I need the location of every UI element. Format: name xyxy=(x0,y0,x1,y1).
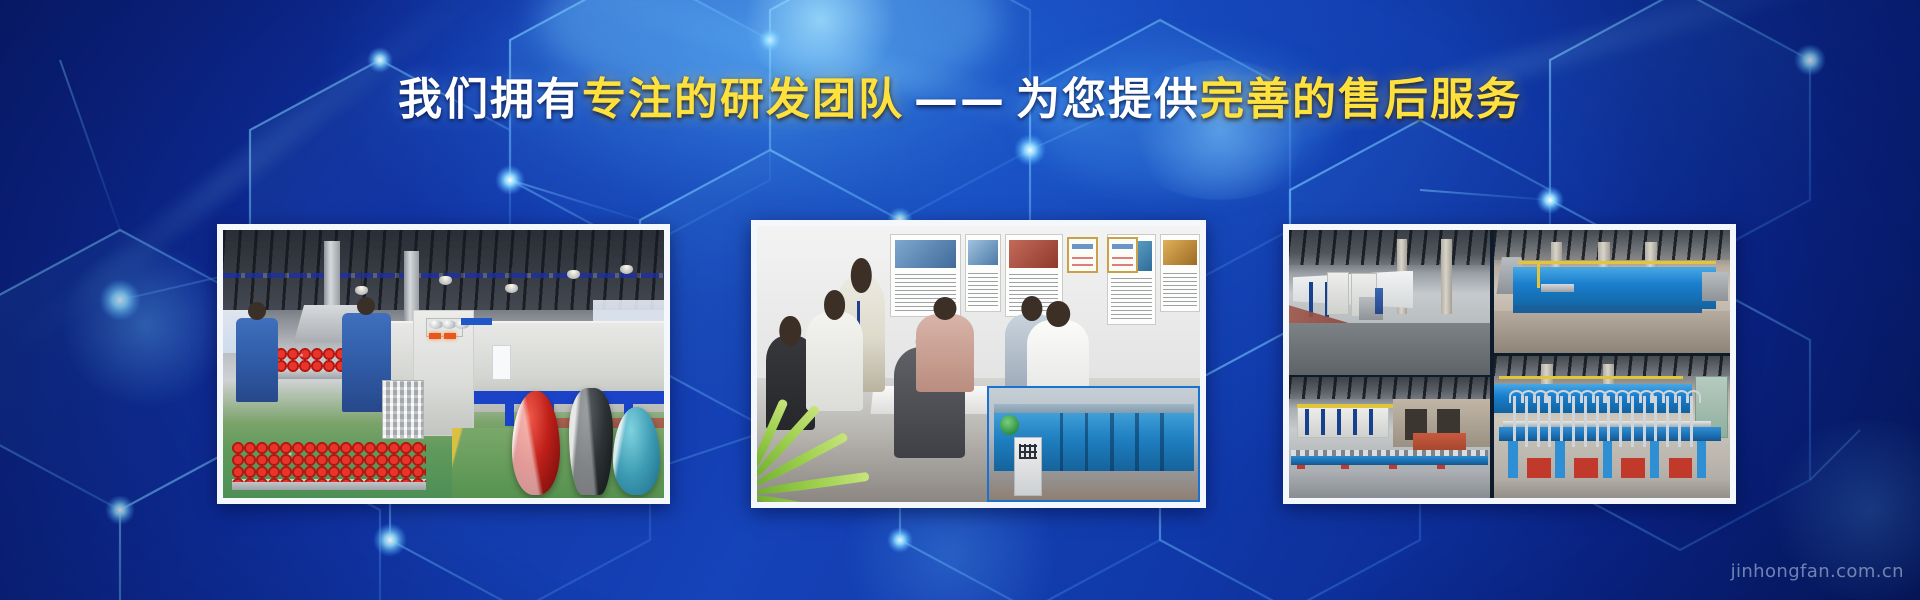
certificate xyxy=(1067,237,1098,273)
collage-tile-hanging-hook-conveyor xyxy=(1494,356,1730,498)
worker-blue-uniform xyxy=(1375,288,1383,314)
certificate xyxy=(1107,237,1138,273)
panel-production-line-image xyxy=(223,230,664,498)
conveyor-hook xyxy=(1548,396,1551,447)
workshop-interior xyxy=(1289,230,1490,375)
participant-head xyxy=(851,258,871,293)
collage-tile-chain-conveyor xyxy=(1289,377,1490,498)
machine-segment xyxy=(1110,413,1113,471)
control-button-grid xyxy=(1019,444,1037,459)
headline-highlight-1: 专注的研发团队 xyxy=(582,74,904,125)
machine-segment xyxy=(1060,413,1063,471)
conveyor-hook xyxy=(1584,396,1587,447)
panel-customer-meeting-image xyxy=(757,226,1200,502)
meeting-participant xyxy=(806,312,864,411)
factory-coating-line-photo xyxy=(223,230,664,498)
glow-blob-a xyxy=(730,0,910,80)
plastic-crate xyxy=(382,380,424,439)
tunnel-base xyxy=(1513,306,1702,312)
conveyor-hook xyxy=(1513,396,1516,447)
control-gauge xyxy=(442,320,456,329)
workshop-interior xyxy=(1289,377,1490,498)
palm-plant xyxy=(757,397,885,502)
ceiling-lamp xyxy=(620,265,633,274)
conveyor-hook xyxy=(1525,396,1528,447)
support-pillar xyxy=(1441,239,1451,314)
conveyor-hook xyxy=(1678,396,1681,447)
enclosure-post xyxy=(1337,409,1341,436)
machine-segment xyxy=(1160,413,1163,471)
ceiling-lamp xyxy=(505,284,518,293)
workshop-floor xyxy=(1494,311,1730,353)
poster-thumbnail xyxy=(968,240,997,266)
cabinet-label xyxy=(461,318,492,324)
collage-tile-blue-drying-tunnel xyxy=(1494,230,1730,353)
poster-thumbnail xyxy=(1009,240,1058,267)
technical-poster xyxy=(1160,234,1200,311)
overhead-yellow-beam xyxy=(1297,404,1393,408)
enclosure-post xyxy=(1353,409,1357,436)
oven-enclosure xyxy=(1297,406,1389,437)
certificate-lines xyxy=(1112,252,1134,267)
collage-tile-tunnel-oven-row xyxy=(1289,230,1490,375)
enclosure-post xyxy=(1321,409,1325,436)
machine-inset-photo xyxy=(987,386,1200,502)
participant-head xyxy=(1021,296,1042,321)
oven-leg xyxy=(505,402,514,426)
roof-structure xyxy=(1289,377,1490,399)
worker-head xyxy=(248,302,266,320)
certificate-title xyxy=(1112,244,1134,249)
poster-text-lines xyxy=(968,270,997,306)
poster-thumbnail xyxy=(1163,240,1196,266)
headline-dash: —— xyxy=(904,74,1016,125)
enclosure-post xyxy=(1369,409,1373,436)
conveyor-chain xyxy=(1291,450,1488,456)
machine-control-box xyxy=(1014,437,1041,495)
panel-equipment-collage[interactable] xyxy=(1283,224,1736,504)
workshop-floor xyxy=(1289,323,1490,375)
yellow-gas-pipe xyxy=(1518,261,1716,264)
yellow-gas-pipe xyxy=(1499,376,1683,379)
meeting-participant xyxy=(916,314,974,391)
enclosure-post xyxy=(1305,409,1309,436)
headline-highlight-2: 完善的售后服务 xyxy=(1200,74,1522,125)
conveyor-hook xyxy=(1607,396,1610,447)
wall-document xyxy=(492,345,511,380)
conveyor-hook xyxy=(1560,396,1563,447)
equipment-collage-photo xyxy=(1289,230,1730,498)
worker-head xyxy=(357,297,375,315)
promo-banner: 我们拥有专注的研发团队——为您提供完善的售后服务 xyxy=(0,0,1920,600)
poster-text-lines xyxy=(1111,276,1152,319)
yellow-gas-pipe-drop xyxy=(1537,261,1540,288)
conveyor-hook xyxy=(1596,396,1599,447)
conveyor-hook xyxy=(1643,396,1646,447)
conveyor-hook xyxy=(1631,396,1634,447)
page-title: 我们拥有专注的研发团队——为您提供完善的售后服务 xyxy=(0,78,1920,122)
conveyor-hook xyxy=(1666,396,1669,447)
glass-vase-smoke xyxy=(569,388,613,495)
roof-structure xyxy=(1494,230,1730,260)
control-gauge xyxy=(429,320,443,329)
customer-meeting-photo xyxy=(757,226,1200,502)
certificate-title xyxy=(1072,244,1094,249)
photo-panel-row xyxy=(0,224,1920,504)
poster-thumbnail xyxy=(895,240,956,267)
machine-segment xyxy=(1085,413,1088,471)
workshop-interior xyxy=(1494,356,1730,498)
indicator-light xyxy=(444,333,455,339)
certificate-lines xyxy=(1072,252,1094,267)
conveyor-hook xyxy=(1619,396,1622,447)
participant-head xyxy=(824,290,846,320)
technical-poster xyxy=(965,234,1000,311)
conveyor-hook xyxy=(1654,396,1657,447)
workshop-floor xyxy=(1494,478,1730,498)
panel-equipment-collage-image xyxy=(1289,230,1730,498)
workshop-floor xyxy=(1289,469,1490,498)
site-watermark: jinhongfan.com.cn xyxy=(1731,561,1904,582)
participant-head xyxy=(780,316,801,346)
machine-green-reel xyxy=(1000,415,1019,435)
poster-text-lines xyxy=(1163,270,1196,306)
indicator-light xyxy=(429,333,440,339)
conveyor-hook xyxy=(1537,396,1540,447)
worker-blue-uniform xyxy=(236,318,278,401)
panel-production-line[interactable] xyxy=(217,224,670,504)
ceiling-lamp xyxy=(439,276,452,285)
conveyor-hook xyxy=(1690,396,1693,447)
participant-head xyxy=(1046,301,1070,327)
red-painted-parts-pile xyxy=(232,442,426,482)
headline-part-2: 为您提供 xyxy=(1016,74,1200,125)
palm-frond xyxy=(757,492,860,502)
headline-part-1: 我们拥有 xyxy=(398,74,582,125)
machine-segment xyxy=(1135,413,1138,471)
roof-structure xyxy=(1289,230,1490,265)
participant-head xyxy=(934,297,957,320)
oven-end-cabinet xyxy=(1327,272,1349,315)
panel-customer-meeting[interactable] xyxy=(751,220,1206,508)
chain-conveyor-beam xyxy=(1291,455,1488,466)
workshop-roof xyxy=(223,230,664,310)
tunnel-end-unit xyxy=(1702,272,1728,302)
valve-assembly xyxy=(1541,284,1574,291)
conveyor-hook xyxy=(1572,396,1575,447)
workshop-interior xyxy=(1494,230,1730,353)
